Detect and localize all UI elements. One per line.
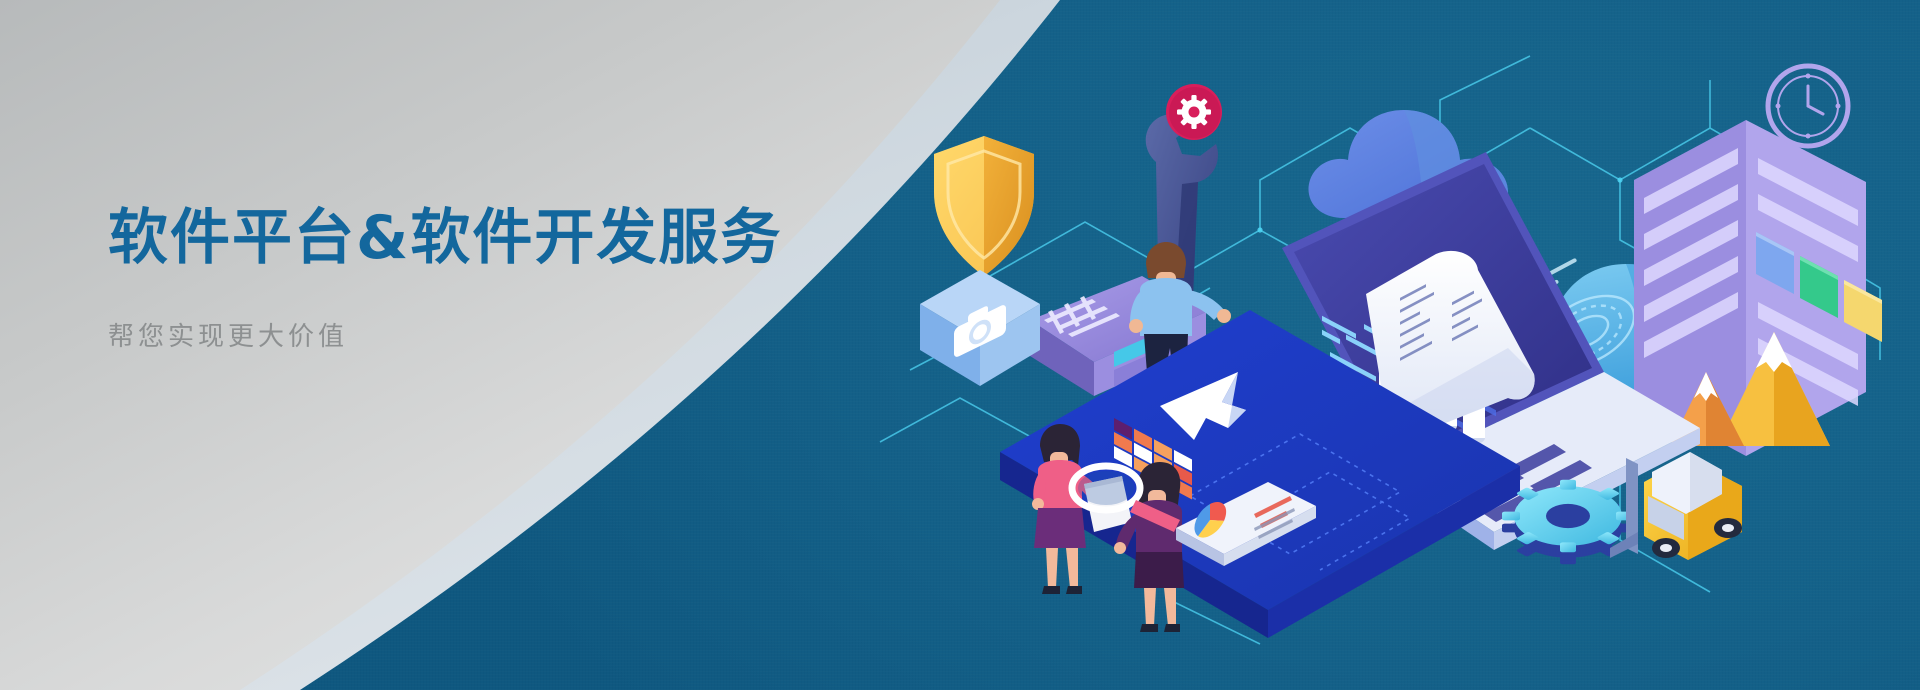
shield-icon [934, 136, 1034, 276]
hero-illustration [880, 40, 1920, 660]
page-title: 软件平台&软件开发服务 [108, 205, 868, 272]
camera-icon [920, 270, 1040, 386]
clock-icon [1768, 66, 1848, 146]
hero-banner: 软件平台&软件开发服务 帮您实现更大价值 [0, 0, 1920, 690]
hero-copy: 软件平台&软件开发服务 帮您实现更大价值 [108, 205, 868, 353]
forklift-icon [1610, 452, 1742, 560]
page-subtitle: 帮您实现更大价值 [108, 316, 868, 353]
gear-badge-icon [1166, 84, 1222, 140]
